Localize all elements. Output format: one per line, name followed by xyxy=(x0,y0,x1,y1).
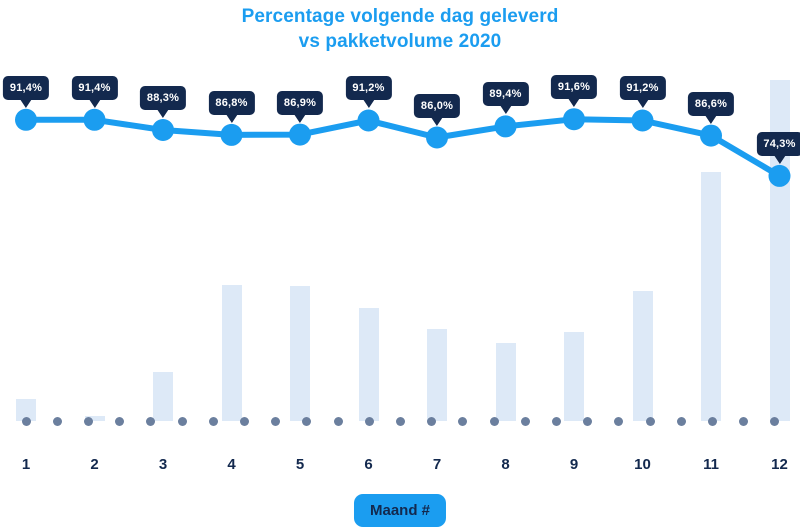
line-point-month-11[interactable] xyxy=(700,125,722,147)
axis-dot xyxy=(302,417,311,426)
axis-dot xyxy=(146,417,155,426)
axis-dot xyxy=(490,417,499,426)
x-tick-9: 9 xyxy=(570,456,578,474)
data-label-month-10: 91,2% xyxy=(619,76,665,100)
x-tick-6: 6 xyxy=(364,456,372,474)
x-tick-8: 8 xyxy=(501,456,509,474)
axis-dot xyxy=(365,417,374,426)
axis-dot xyxy=(677,417,686,426)
line-series-svg xyxy=(0,0,800,445)
axis-dot xyxy=(396,417,405,426)
axis-dot xyxy=(708,417,717,426)
x-tick-1: 1 xyxy=(22,456,30,474)
line-markers-group xyxy=(15,108,791,187)
data-label-month-3: 88,3% xyxy=(140,86,186,110)
bar-month-6 xyxy=(359,308,379,421)
axis-dot xyxy=(770,417,779,426)
bar-month-8 xyxy=(496,343,516,421)
axis-dot xyxy=(271,417,280,426)
data-label-month-4: 86,8% xyxy=(208,91,254,115)
line-series-path xyxy=(26,119,780,176)
data-label-month-2: 91,4% xyxy=(71,76,117,100)
axis-dot xyxy=(739,417,748,426)
bar-month-10 xyxy=(633,291,653,421)
x-tick-11: 11 xyxy=(703,456,719,474)
x-tick-12: 12 xyxy=(771,456,788,474)
line-point-month-8[interactable] xyxy=(495,115,517,137)
axis-dot xyxy=(334,417,343,426)
bar-month-11 xyxy=(701,172,721,421)
x-tick-4: 4 xyxy=(227,456,235,474)
bar-month-4 xyxy=(222,285,242,421)
axis-dot xyxy=(22,417,31,426)
line-point-month-3[interactable] xyxy=(152,119,174,141)
axis-dot xyxy=(427,417,436,426)
axis-dot xyxy=(583,417,592,426)
x-tick-5: 5 xyxy=(296,456,304,474)
data-label-month-6: 91,2% xyxy=(345,76,391,100)
axis-dot xyxy=(240,417,249,426)
bar-month-3 xyxy=(153,372,173,421)
line-point-month-2[interactable] xyxy=(84,109,106,131)
line-point-month-7[interactable] xyxy=(426,127,448,149)
data-label-month-7: 86,0% xyxy=(414,94,460,118)
axis-dot xyxy=(53,417,62,426)
axis-dot xyxy=(209,417,218,426)
line-point-month-6[interactable] xyxy=(358,110,380,132)
bar-month-9 xyxy=(564,332,584,421)
x-tick-7: 7 xyxy=(433,456,441,474)
data-label-month-8: 89,4% xyxy=(482,82,528,106)
axis-dot xyxy=(458,417,467,426)
axis-dot xyxy=(646,417,655,426)
axis-dot xyxy=(84,417,93,426)
bar-month-7 xyxy=(427,329,447,421)
data-label-month-11: 86,6% xyxy=(688,92,734,116)
chart-container: Percentage volgende dag geleverd vs pakk… xyxy=(0,0,800,532)
line-point-month-1[interactable] xyxy=(15,109,37,131)
plot-area: 91,4%91,4%88,3%86,8%86,9%91,2%86,0%89,4%… xyxy=(0,0,800,445)
data-label-month-9: 91,6% xyxy=(551,75,597,99)
x-tick-3: 3 xyxy=(159,456,167,474)
data-label-month-1: 91,4% xyxy=(3,76,49,100)
line-point-month-10[interactable] xyxy=(632,110,654,132)
line-point-month-4[interactable] xyxy=(221,124,243,146)
axis-dot xyxy=(614,417,623,426)
axis-dot xyxy=(115,417,124,426)
data-label-month-12: 74,3% xyxy=(756,132,800,156)
axis-dot xyxy=(552,417,561,426)
x-tick-10: 10 xyxy=(634,456,651,474)
line-point-month-9[interactable] xyxy=(563,108,585,130)
line-point-month-5[interactable] xyxy=(289,124,311,146)
data-label-month-5: 86,9% xyxy=(277,91,323,115)
x-axis-title-pill[interactable]: Maand # xyxy=(354,494,446,527)
x-tick-2: 2 xyxy=(90,456,98,474)
axis-dot xyxy=(521,417,530,426)
axis-dot xyxy=(178,417,187,426)
bar-month-5 xyxy=(290,286,310,421)
